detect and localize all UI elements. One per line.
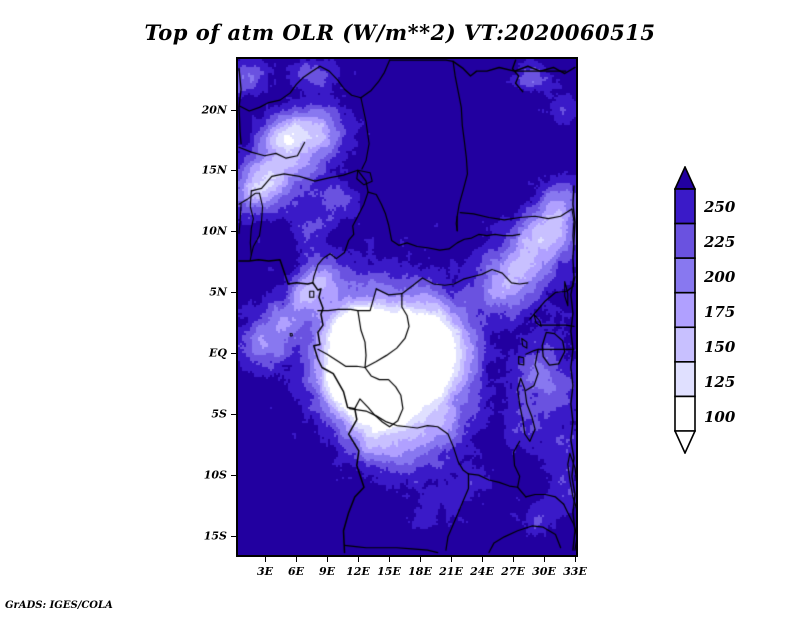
longitude-tick-label: 9E [319,565,335,578]
colorbar-tick-label: 250 [704,198,735,216]
longitude-tick-mark [575,557,576,562]
longitude-tick-label: 15E [377,565,401,578]
colorbar-band [675,189,695,224]
latitude-tick-mark [231,292,236,293]
colorbar-band [675,258,695,293]
latitude-tick-label: 10N [202,225,227,238]
colorbar-tick-label: 125 [704,373,735,391]
longitude-tick-mark [389,557,390,562]
latitude-tick-label: 15N [202,164,227,177]
colorbar-under-arrow [675,431,695,453]
longitude-tick-label: 21E [439,565,463,578]
colorbar: 250225200175150125100 [674,166,696,454]
latitude-tick-label: EQ [209,347,227,360]
latitude-tick-label: 5S [211,408,227,421]
longitude-tick-label: 24E [470,565,494,578]
latitude-tick-mark [231,414,236,415]
colorbar-band [675,224,695,259]
longitude-tick-mark [358,557,359,562]
longitude-tick-mark [482,557,483,562]
latitude-tick-mark [231,353,236,354]
colorbar-over-arrow [675,167,695,189]
latitude-tick-mark [231,536,236,537]
colorbar-band [675,293,695,328]
colorbar-swatches [674,166,696,454]
longitude-tick-label: 6E [288,565,304,578]
grads-credit: GrADS: IGES/COLA [5,600,113,611]
longitude-tick-mark [296,557,297,562]
latitude-tick-label: 20N [202,104,227,117]
latitude-tick-label: 15S [204,530,227,543]
colorbar-tick-label: 225 [704,233,735,251]
latitude-tick-mark [231,475,236,476]
latitude-tick-mark [231,170,236,171]
page-title: Top of atm OLR (W/m**2) VT:2020060515 [0,20,800,45]
olr-heatmap-canvas [238,59,576,555]
longitude-tick-mark [544,557,545,562]
colorbar-tick-label: 200 [704,268,735,286]
longitude-tick-label: 33E [563,565,587,578]
longitude-tick-mark [513,557,514,562]
longitude-tick-label: 12E [346,565,370,578]
longitude-tick-label: 3E [257,565,273,578]
latitude-tick-label: 5N [209,286,227,299]
longitude-tick-label: 27E [501,565,525,578]
latitude-tick-mark [231,231,236,232]
grads-plot-window: Top of atm OLR (W/m**2) VT:2020060515 25… [0,0,800,618]
longitude-tick-mark [265,557,266,562]
colorbar-tick-label: 150 [704,338,735,356]
longitude-tick-mark [420,557,421,562]
longitude-tick-label: 18E [408,565,432,578]
colorbar-tick-label: 100 [704,408,735,426]
colorbar-band [675,396,695,431]
colorbar-band [675,327,695,362]
map-plot-area [236,57,578,557]
colorbar-band [675,362,695,397]
colorbar-tick-label: 175 [704,303,735,321]
longitude-tick-mark [451,557,452,562]
longitude-tick-mark [327,557,328,562]
latitude-tick-label: 10S [204,469,227,482]
latitude-tick-mark [231,110,236,111]
longitude-tick-label: 30E [532,565,556,578]
